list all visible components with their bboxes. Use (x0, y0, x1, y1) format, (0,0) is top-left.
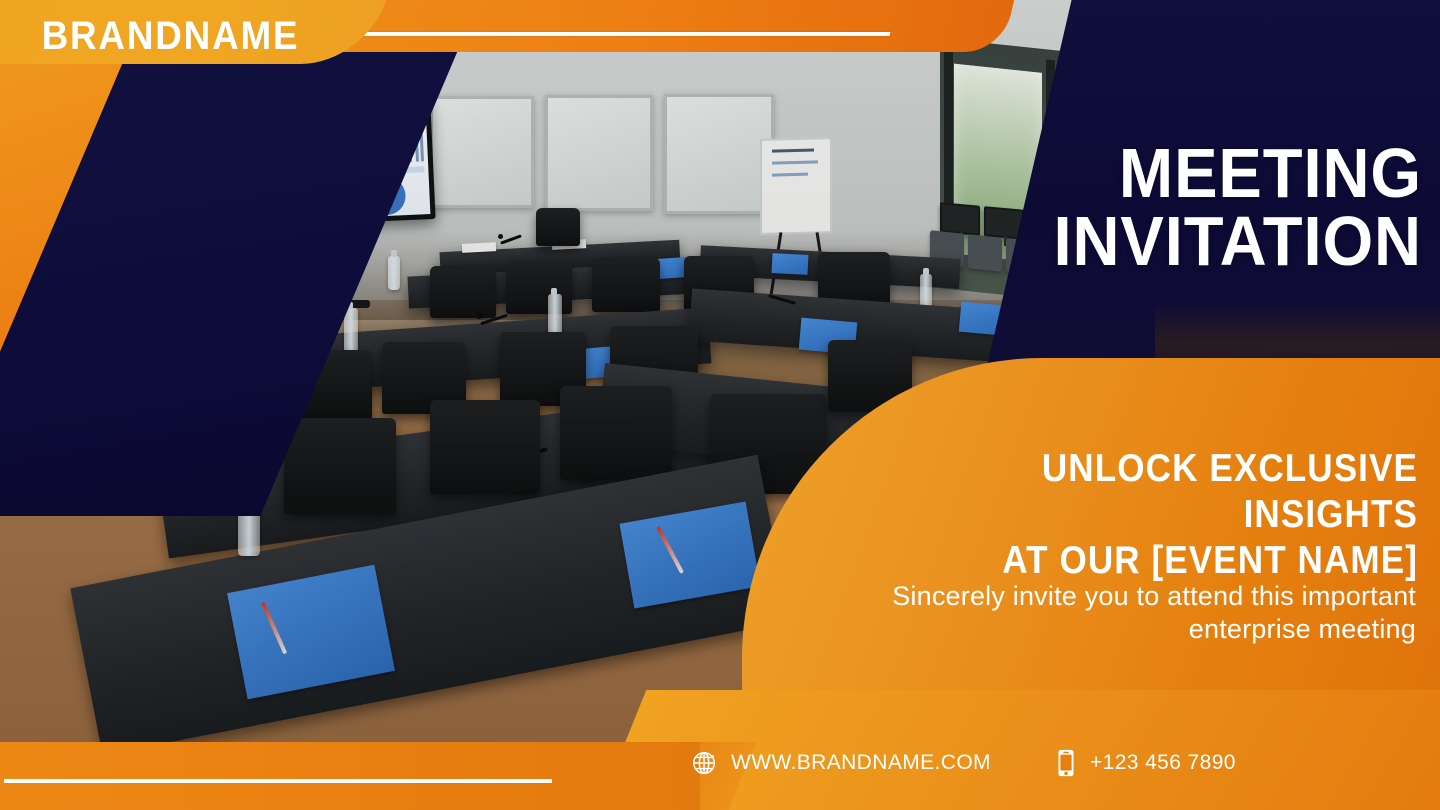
bottom-orange-band (0, 742, 700, 810)
subtitle-line-2: enterprise meeting (776, 613, 1416, 646)
subtitle-text: Sincerely invite you to attend this impo… (776, 580, 1416, 646)
website-label: WWW.BRANDNAME.COM (731, 751, 991, 775)
page-title: MEETING INVITATION (845, 140, 1422, 276)
phone-label: +123 456 7890 (1090, 751, 1236, 775)
globe-icon (690, 748, 720, 778)
headline-line-1: UNLOCK EXCLUSIVE INSIGHTS (860, 446, 1418, 538)
title-line-2: INVITATION (845, 208, 1422, 276)
subtitle-line-1: Sincerely invite you to attend this impo… (776, 580, 1416, 613)
website-contact[interactable]: WWW.BRANDNAME.COM (690, 748, 991, 778)
title-line-1: MEETING (845, 140, 1422, 208)
brand-name: BRANDNAME (42, 12, 355, 60)
headline: UNLOCK EXCLUSIVE INSIGHTS AT OUR [EVENT … (860, 446, 1418, 584)
mobile-phone-icon (1053, 748, 1079, 778)
top-white-rule (345, 32, 891, 36)
headline-line-2: AT OUR [EVENT NAME] (860, 538, 1418, 584)
meeting-invitation-poster: BRANDNAME MEETING INVITATION UNLOCK EXCL… (0, 0, 1440, 810)
bottom-white-rule (4, 779, 552, 783)
footer-contact: WWW.BRANDNAME.COM +123 456 7890 (690, 748, 1236, 778)
phone-contact[interactable]: +123 456 7890 (1053, 748, 1236, 778)
